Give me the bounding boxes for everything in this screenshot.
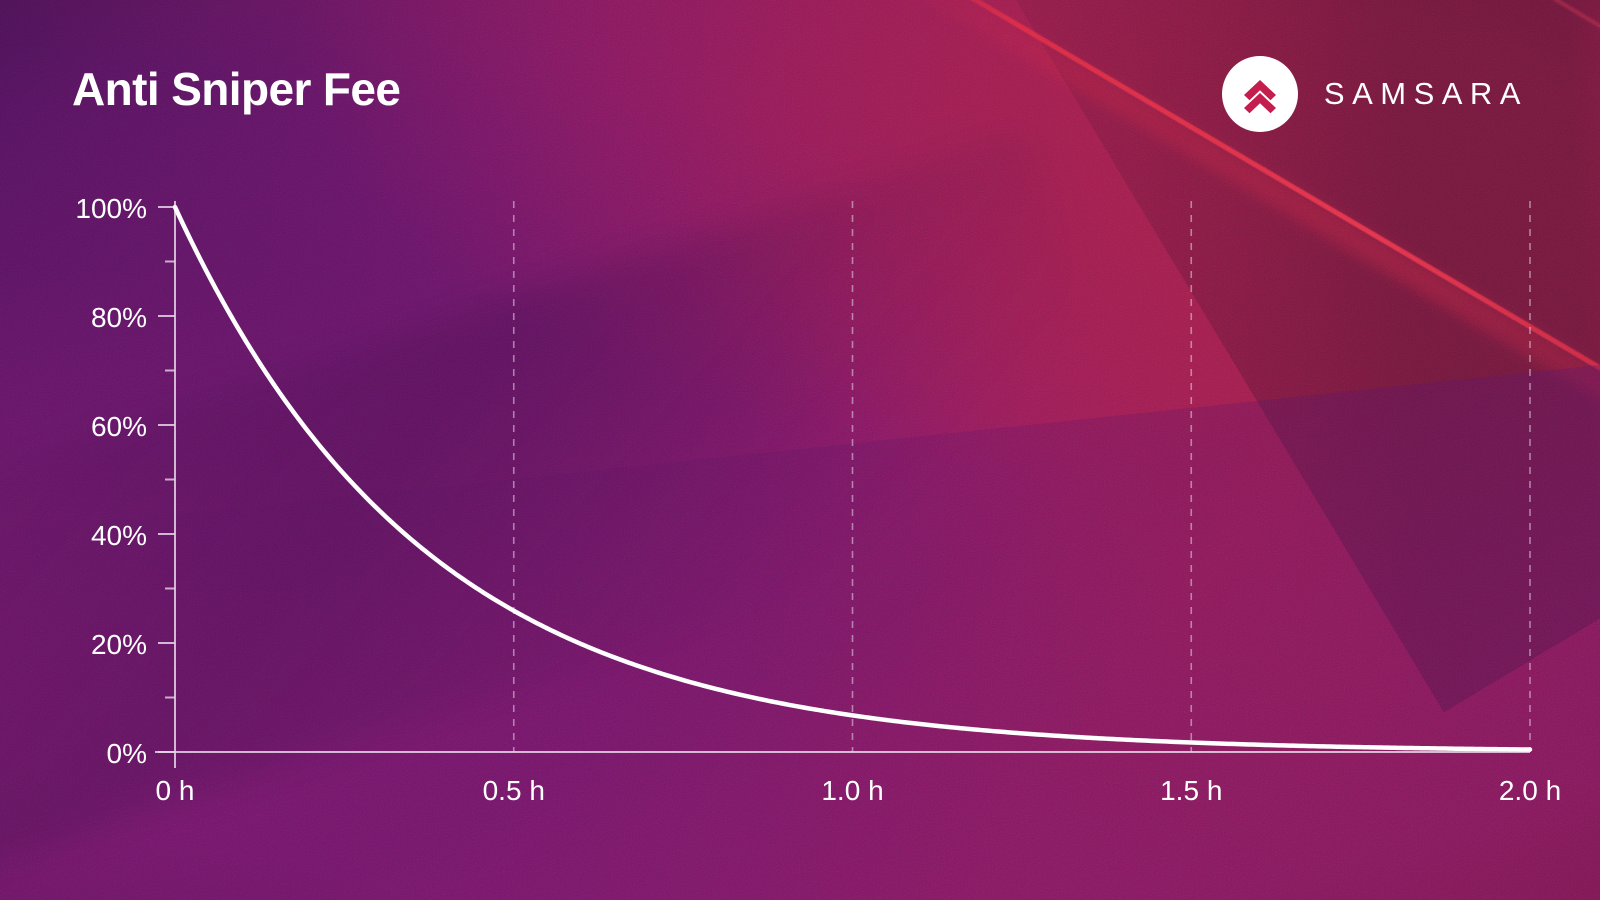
y-tick-label: 60% [91, 411, 147, 442]
chart-y-ticks [158, 207, 175, 752]
chart-gridlines [514, 201, 1530, 752]
x-tick-label: 2.0 h [1499, 775, 1561, 806]
y-tick-label: 0% [107, 738, 147, 769]
y-tick-label: 80% [91, 302, 147, 333]
x-tick-label: 1.0 h [821, 775, 883, 806]
x-tick-label: 0 h [156, 775, 195, 806]
chart-y-tick-labels: 0%20%40%60%80%100% [75, 193, 147, 769]
x-tick-label: 1.5 h [1160, 775, 1222, 806]
y-tick-label: 40% [91, 520, 147, 551]
infographic-canvas: Anti Sniper Fee SAMSARA 0%20%40%60%80%10… [0, 0, 1600, 900]
y-tick-label: 100% [75, 193, 147, 224]
chart-x-tick-labels: 0 h0.5 h1.0 h1.5 h2.0 h [156, 775, 1562, 806]
chart-axes [155, 201, 1530, 768]
x-tick-label: 0.5 h [483, 775, 545, 806]
y-tick-label: 20% [91, 629, 147, 660]
anti-sniper-fee-chart: 0%20%40%60%80%100% 0 h0.5 h1.0 h1.5 h2.0… [0, 0, 1600, 900]
